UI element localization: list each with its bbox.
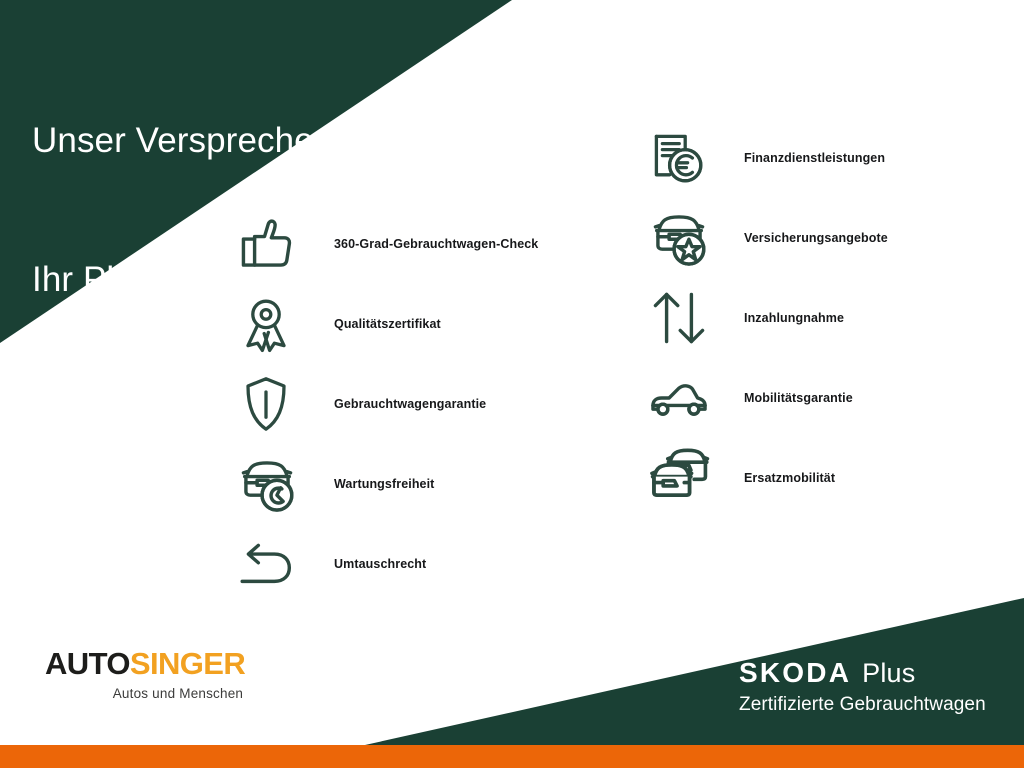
feature-item: Qualitätszertifikat [236, 284, 538, 364]
headline-line-1: Unser Versprechen. [32, 118, 343, 164]
feature-list-right: Finanzdienstleistungen Versich [648, 118, 888, 518]
award-rosette-icon [236, 287, 314, 361]
skoda-subtitle: Zertifizierte Gebrauchtwagen [739, 694, 986, 716]
up-down-arrows-icon [648, 281, 726, 355]
dealer-logo: AUTOSINGER Autos und Menschen [45, 648, 245, 701]
dealer-wordmark-singer: SINGER [130, 646, 245, 681]
feature-item: Ersatzmobilität [648, 438, 888, 518]
feature-label: Qualitätszertifikat [334, 317, 441, 331]
dealer-wordmark-auto: AUTO [45, 646, 130, 681]
two-cars-icon [648, 441, 726, 515]
car-wrench-icon [236, 447, 314, 521]
skoda-logo-top-row: SKODA Plus [739, 659, 986, 687]
car-side-icon [648, 361, 726, 435]
feature-item: 360-Grad-Gebrauchtwagen-Check [236, 204, 538, 284]
feature-item: Gebrauchtwagengarantie [236, 364, 538, 444]
feature-label: 360-Grad-Gebrauchtwagen-Check [334, 237, 538, 251]
return-arrow-icon [236, 527, 314, 601]
feature-label: Finanzdienstleistungen [744, 151, 885, 165]
skoda-brand-wordmark: SKODA [739, 659, 851, 687]
shield-icon [236, 367, 314, 441]
thumbs-up-icon [236, 207, 314, 281]
skoda-plus-label: Plus [862, 660, 915, 687]
skoda-plus-logo: SKODA Plus Zertifizierte Gebrauchtwagen [739, 659, 986, 716]
feature-label: Mobilitätsgarantie [744, 391, 853, 405]
feature-item: Umtauschrecht [236, 524, 538, 604]
feature-item: Versicherungsangebote [648, 198, 888, 278]
feature-label: Versicherungsangebote [744, 231, 888, 245]
dealer-wordmark: AUTOSINGER [45, 648, 245, 679]
bottom-accent-bar [0, 745, 1024, 768]
dealer-tagline: Autos und Menschen [45, 686, 245, 701]
feature-list-left: 360-Grad-Gebrauchtwagen-Check Qualitätsz… [236, 204, 538, 604]
feature-item: Wartungsfreiheit [236, 444, 538, 524]
document-euro-icon [648, 121, 726, 195]
feature-item: Inzahlungnahme [648, 278, 888, 358]
feature-label: Inzahlungnahme [744, 311, 844, 325]
feature-label: Wartungsfreiheit [334, 477, 434, 491]
feature-item: Finanzdienstleistungen [648, 118, 888, 198]
feature-label: Gebrauchtwagengarantie [334, 397, 486, 411]
car-star-icon [648, 201, 726, 275]
promo-banner: Unser Versprechen. Ihr Plus. 360-Grad-Ge… [0, 0, 1024, 768]
feature-item: Mobilitätsgarantie [648, 358, 888, 438]
feature-label: Ersatzmobilität [744, 471, 835, 485]
feature-label: Umtauschrecht [334, 557, 426, 571]
